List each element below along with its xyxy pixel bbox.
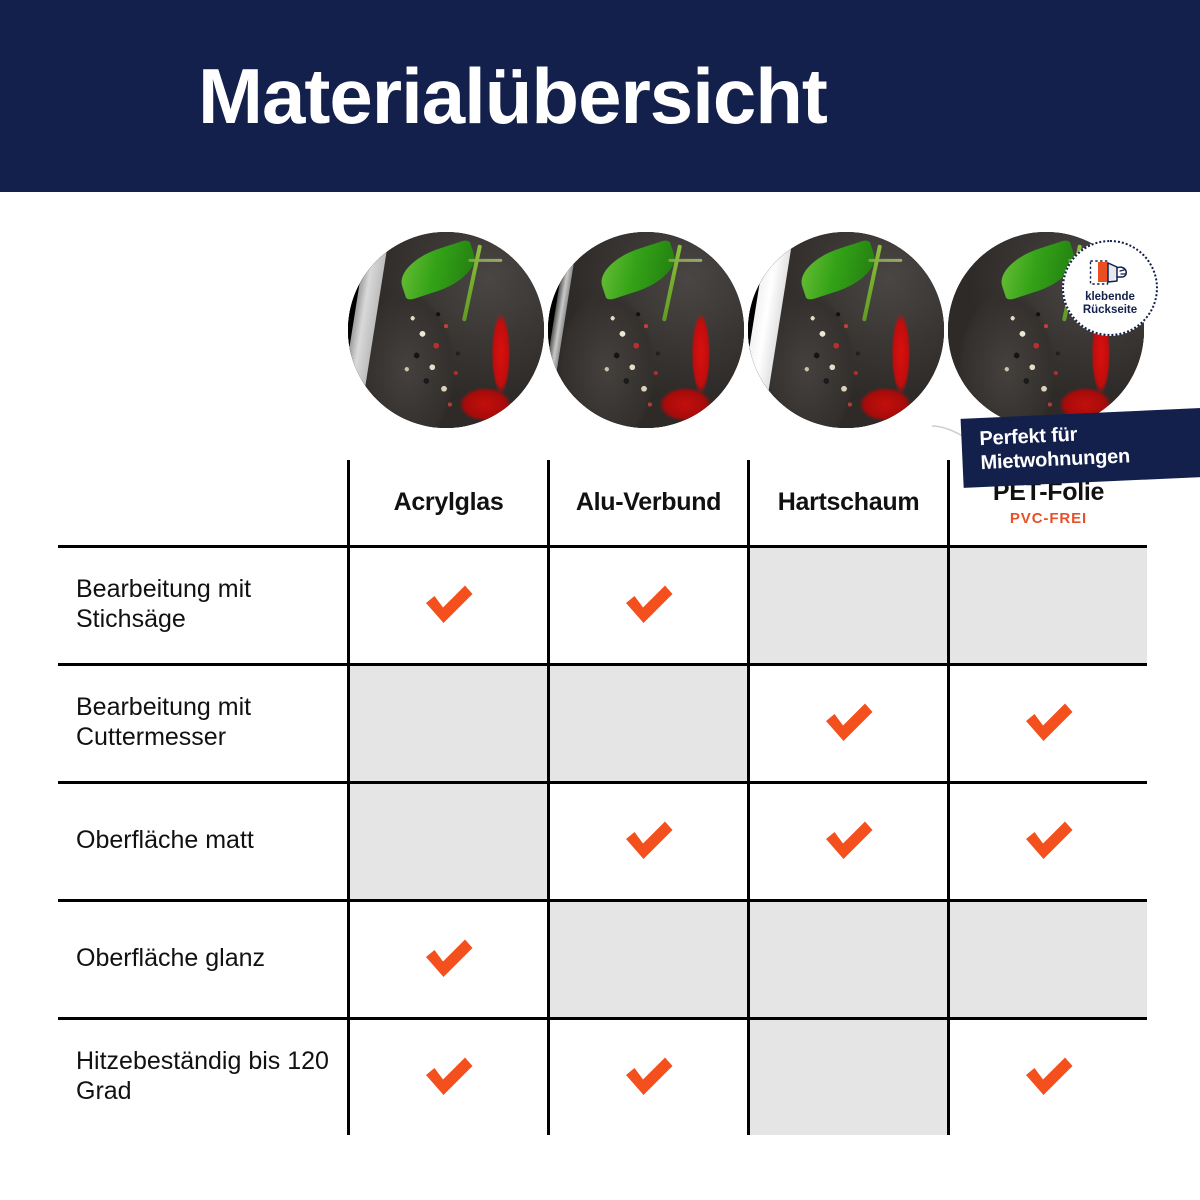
product-image-alu-verbund <box>548 232 744 428</box>
material-comparison-table: AcrylglasAlu-VerbundHartschaumPET-FolieP… <box>0 460 1200 1135</box>
feature-cell-unsupported <box>747 899 947 1017</box>
column-header-label: Alu-Verbund <box>576 488 721 517</box>
adhesive-back-badge: klebende Rückseite <box>1062 240 1158 336</box>
row-label-cell: Hitzebeständig bis 120 Grad <box>0 1017 347 1135</box>
check-icon <box>1021 818 1077 862</box>
column-header-label: Hartschaum <box>778 488 920 517</box>
feature-cell-supported <box>547 1017 747 1135</box>
feature-cell-unsupported <box>547 663 747 781</box>
feature-cell-supported <box>347 1017 547 1135</box>
feature-cell-supported <box>547 545 747 663</box>
row-label: Bearbeitung mit Stichsäge <box>76 574 337 635</box>
feature-cell-supported <box>747 663 947 781</box>
feature-cell-unsupported <box>347 781 547 899</box>
row-label: Hitzebeständig bis 120 Grad <box>76 1046 337 1107</box>
feature-cell-unsupported <box>947 899 1147 1017</box>
adhesive-back-icon <box>1089 259 1131 289</box>
row-label-cell: Bearbeitung mit Cuttermesser <box>0 663 347 781</box>
feature-cell-supported <box>947 781 1147 899</box>
row-label: Bearbeitung mit Cuttermesser <box>76 692 337 753</box>
table-row: Bearbeitung mit Stichsäge <box>0 545 1200 663</box>
check-icon <box>421 1054 477 1098</box>
feature-cell-supported <box>947 663 1147 781</box>
product-image-acrylglas <box>348 232 544 428</box>
feature-cell-unsupported <box>747 1017 947 1135</box>
feature-cell-supported <box>947 1017 1147 1135</box>
badge-line-1: klebende <box>1085 291 1135 304</box>
check-icon <box>821 818 877 862</box>
page-title: Materialübersicht <box>198 57 827 135</box>
check-icon <box>621 582 677 626</box>
check-icon <box>421 936 477 980</box>
column-header-hartschaum: Hartschaum <box>747 460 947 545</box>
column-header-alu-verbund: Alu-Verbund <box>547 460 747 545</box>
check-icon <box>821 700 877 744</box>
feature-cell-unsupported <box>947 545 1147 663</box>
column-header-sublabel: PVC-FREI <box>1010 510 1087 527</box>
feature-cell-supported <box>547 781 747 899</box>
row-label: Oberfläche matt <box>76 825 254 856</box>
feature-cell-supported <box>347 899 547 1017</box>
column-header-label: Acrylglas <box>394 488 504 517</box>
rental-apartment-ribbon: Perfekt für Mietwohnungen <box>961 407 1200 488</box>
check-icon <box>1021 700 1077 744</box>
row-label-cell: Oberfläche matt <box>0 781 347 899</box>
feature-cell-supported <box>347 545 547 663</box>
check-icon <box>421 582 477 626</box>
feature-cell-supported <box>747 781 947 899</box>
check-icon <box>621 1054 677 1098</box>
row-label-cell: Bearbeitung mit Stichsäge <box>0 545 347 663</box>
feature-cell-unsupported <box>347 663 547 781</box>
feature-cell-unsupported <box>547 899 747 1017</box>
table-row: Bearbeitung mit Cuttermesser <box>0 663 1200 781</box>
badge-line-2: Rückseite <box>1083 304 1137 317</box>
column-header-acrylglas: Acrylglas <box>347 460 547 545</box>
header-banner: Materialübersicht <box>0 0 1200 192</box>
feature-cell-unsupported <box>747 545 947 663</box>
table-body: Bearbeitung mit StichsägeBearbeitung mit… <box>0 545 1200 1135</box>
check-icon <box>1021 1054 1077 1098</box>
check-icon <box>621 818 677 862</box>
table-header-spacer <box>0 460 347 545</box>
product-photo <box>548 232 744 428</box>
row-label: Oberfläche glanz <box>76 943 265 974</box>
table-row: Hitzebeständig bis 120 Grad <box>0 1017 1200 1135</box>
table-row: Oberfläche glanz <box>0 899 1200 1017</box>
product-image-hartschaum <box>748 232 944 428</box>
table-row: Oberfläche matt <box>0 781 1200 899</box>
row-label-cell: Oberfläche glanz <box>0 899 347 1017</box>
